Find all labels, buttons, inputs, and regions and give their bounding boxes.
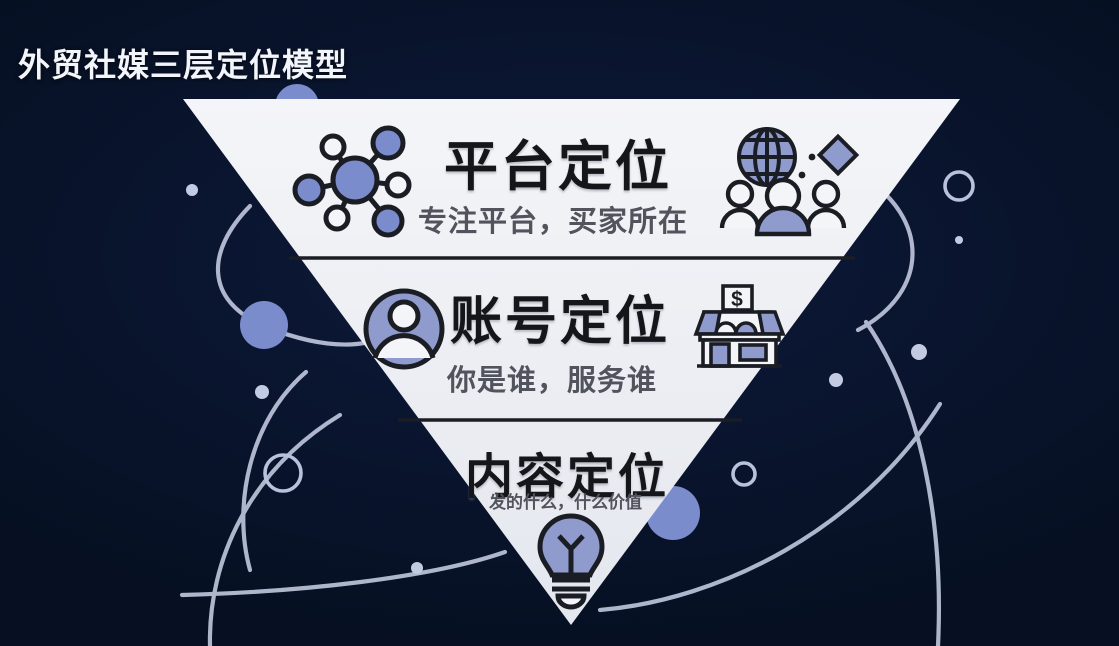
shop-storefront-icon: $	[696, 286, 783, 366]
tier-content-subheading: 发的什么，什么价值	[489, 488, 642, 513]
diamond-trail-dots	[799, 154, 816, 179]
tier-platform-heading: 平台定位	[444, 122, 672, 201]
people-group-icon	[722, 180, 844, 234]
page-title: 外贸社媒三层定位模型	[18, 40, 348, 86]
user-avatar-icon	[366, 291, 442, 367]
globe-icon	[739, 129, 795, 185]
network-hub-icon	[295, 128, 409, 235]
lightbulb-icon	[540, 516, 602, 607]
tier-platform-subheading: 专注平台，买家所在	[418, 198, 688, 240]
tier-account-subheading: 你是谁，服务谁	[447, 357, 657, 399]
slide-canvas: $ 外贸社媒三层定位模型 平台定位 专注平台，买家所在 账号定位	[0, 0, 1119, 646]
tier-account-heading: 账号定位	[450, 279, 670, 354]
svg-text:$: $	[731, 288, 743, 311]
diamond-icon	[820, 137, 857, 174]
